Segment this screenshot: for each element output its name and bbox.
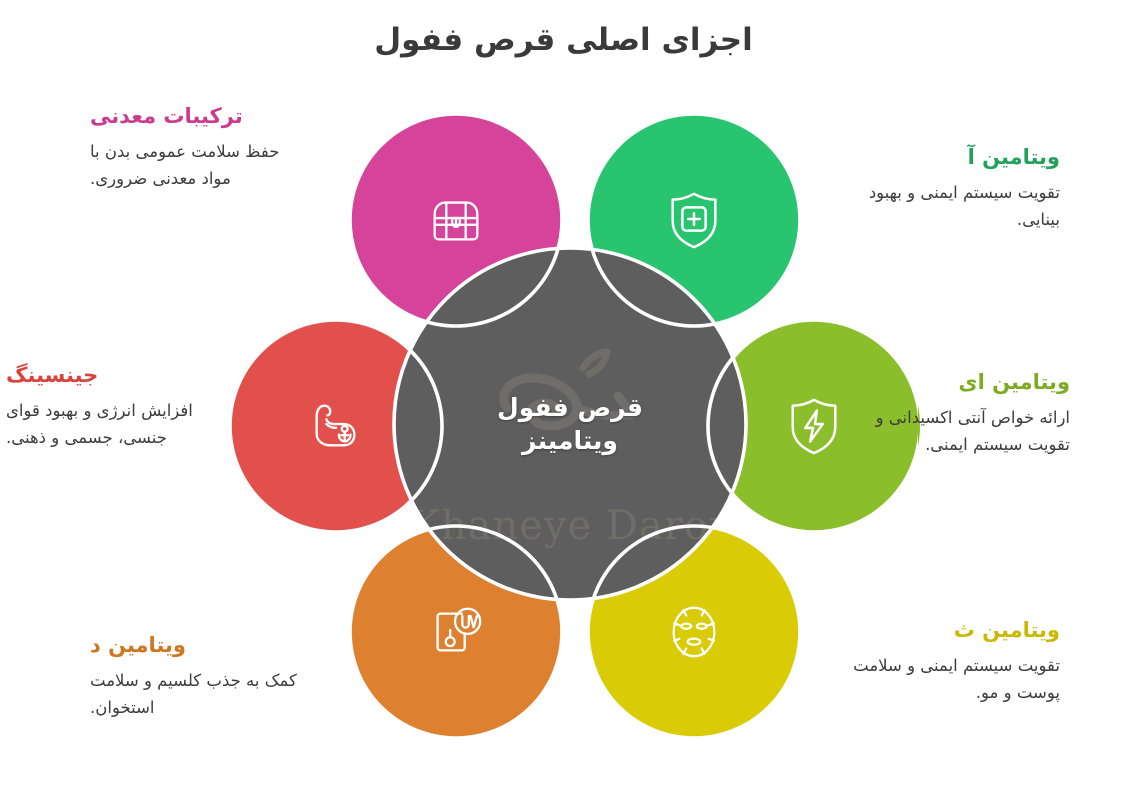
heading-vitamin-d: ویتامین د <box>90 633 305 658</box>
treasure-chest-icon <box>425 189 487 251</box>
watermark-name: Khaneye Darou <box>410 503 736 549</box>
center-circle: www.Khaneye Darou.com <box>394 248 746 600</box>
text-block-vitamin-e: ویتامین ای ارائه خواص آنتی اکسیدانی و تق… <box>855 370 1070 459</box>
description-vitamin-e: ارائه خواص آنتی اکسیدانی و تقویت سیستم ا… <box>855 405 1070 458</box>
shield-plus-icon <box>664 189 724 251</box>
watermark-prefix: www. <box>394 519 410 539</box>
infographic-canvas: اجزای اصلی قرص ففول <box>0 0 1127 800</box>
description-minerals: حفظ سلامت عمومی بدن با مواد معدنی ضروری. <box>90 139 305 192</box>
page-title: اجزای اصلی قرص ففول <box>0 22 1127 58</box>
uv-sunscreen-icon <box>425 602 487 662</box>
face-mask-icon <box>663 601 725 663</box>
description-ginseng: افزایش انرژی و بهبود قوای جنسی، جسمی و ذ… <box>6 398 221 451</box>
heading-ginseng: جینسینگ <box>6 363 221 388</box>
heading-vitamin-e: ویتامین ای <box>855 370 1070 395</box>
text-block-vitamin-a: ویتامین آ تقویت سیستم ایمنی و بهبود بینا… <box>845 145 1060 234</box>
brand-logo-watermark <box>455 344 685 468</box>
text-block-ginseng: جینسینگ افزایش انرژی و بهبود قوای جنسی، … <box>6 363 221 452</box>
text-block-vitamin-d: ویتامین د کمک به جذب کلسیم و سلامت استخو… <box>90 633 305 722</box>
description-vitamin-c: تقویت سیستم ایمنی و سلامت پوست و مو. <box>845 653 1060 706</box>
description-vitamin-d: کمک به جذب کلسیم و سلامت استخوان. <box>90 668 305 721</box>
flower-diagram: www.Khaneye Darou.com قرص ففول ویتامینز <box>218 98 918 758</box>
center-circle-fill: www.Khaneye Darou.com <box>394 248 746 600</box>
brand-watermark: www.Khaneye Darou.com <box>394 503 746 549</box>
description-vitamin-a: تقویت سیستم ایمنی و بهبود بینایی. <box>845 180 1060 233</box>
heading-vitamin-c: ویتامین ث <box>845 618 1060 643</box>
flexed-biceps-icon <box>305 397 367 455</box>
text-block-minerals: ترکیبات معدنی حفظ سلامت عمومی بدن با موا… <box>90 104 305 193</box>
heading-vitamin-a: ویتامین آ <box>845 145 1060 170</box>
heading-minerals: ترکیبات معدنی <box>90 104 305 129</box>
watermark-suffix: .com <box>736 519 746 539</box>
shield-bolt-icon <box>785 395 843 457</box>
text-block-vitamin-c: ویتامین ث تقویت سیستم ایمنی و سلامت پوست… <box>845 618 1060 707</box>
